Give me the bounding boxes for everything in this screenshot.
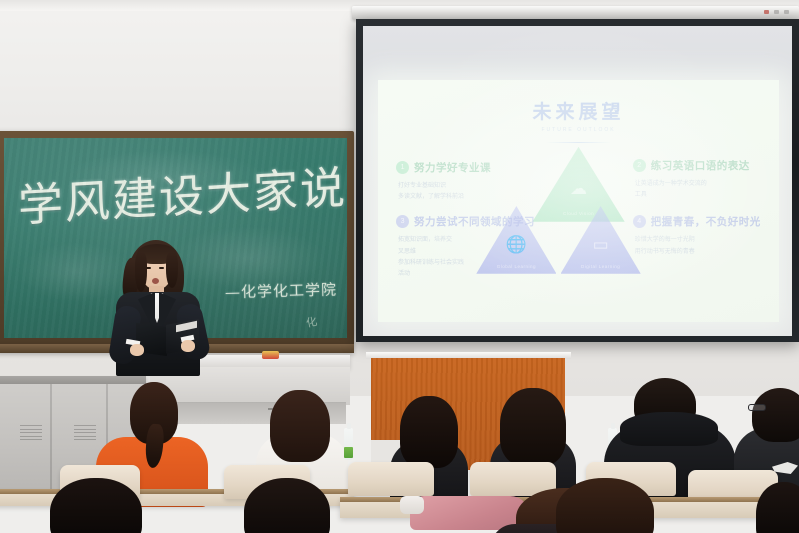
slide-block-title: 努力尝试不同领域的学习	[414, 214, 535, 229]
bottle-neck	[611, 423, 615, 429]
roller-screw-icon	[774, 10, 779, 14]
triangle-bottom-right-caption: Digital Learning	[561, 264, 641, 269]
projection-screen: 未来展望 FUTURE OUTLOOK ☁ Cloud Vision 🌐 Glo…	[356, 19, 799, 342]
slide-block-top-right: 2 练习英语口语的表达 让英语成为一种学术交流的 工具	[633, 158, 769, 201]
bullet-number-icon: 3	[396, 215, 409, 228]
slide-body-line: 叉思维	[398, 247, 540, 258]
student-foreground-left	[50, 478, 142, 533]
slide-block-body: 珍惜大学的每一寸光阴 用行动书写无悔的青春	[635, 235, 769, 257]
slide-body-line: 让英语成为一种学术交流的	[635, 179, 769, 190]
chalk-smudge	[66, 150, 265, 202]
slide-block-title: 努力学好专业课	[414, 160, 491, 175]
cabinet-seam	[50, 384, 52, 499]
bullet-number-icon: 2	[633, 159, 646, 172]
chalkboard-extra-mark: 化	[304, 313, 318, 331]
classroom-scene: 学风建设大家说 —化学化工学院 化 未来展望 FUTURE OUTLOOK ☁ …	[0, 0, 799, 533]
bullet-number-icon: 4	[633, 215, 646, 228]
projection-screen-surface: 未来展望 FUTURE OUTLOOK ☁ Cloud Vision 🌐 Glo…	[363, 26, 792, 336]
presenter-side-hair	[135, 252, 147, 292]
slide-block-title: 练习英语口语的表达	[651, 158, 750, 173]
seat-back-3[interactable]	[348, 462, 434, 496]
slide-block-heading: 2 练习英语口语的表达	[633, 158, 769, 173]
triangle-bottom-right: ▭ Digital Learning	[561, 206, 641, 274]
student-black-hair-center-hair	[500, 388, 566, 466]
slide-title-rule	[546, 142, 610, 143]
slide-block-body: 拓宽知识面，培养交 叉思维 参加科研训练与社会实践 活动	[398, 235, 540, 279]
slide-body-line: 多读文献，了解学科前沿	[398, 192, 528, 203]
slide-title: 未来展望	[378, 97, 779, 124]
student-male-hoodie-hood	[620, 412, 718, 446]
slide-block-top-left: 1 努力学好专业课 打好专业基础知识 多读文献，了解学科前沿	[396, 160, 528, 203]
presenter-side-hair	[166, 252, 178, 288]
cabinet-vent-icon	[20, 425, 42, 442]
slide-block-heading: 1 努力学好专业课	[396, 160, 528, 175]
slide-block-heading: 4 把握青春，不负好时光	[633, 214, 769, 229]
presenter-hand-left	[130, 344, 144, 356]
chalkboard-title: 学风建设大家说	[18, 165, 347, 228]
student-foreground-right	[556, 478, 654, 533]
presenter-hand-right	[181, 340, 195, 352]
slide-block-title: 把握青春，不负好时光	[651, 214, 761, 229]
student-white-top-hair	[270, 390, 330, 462]
student-glasses-jacket-hair	[752, 388, 799, 442]
pink-jacket-cuff	[400, 496, 424, 514]
slide-body-line: 工具	[635, 190, 769, 201]
slide-body-line: 珍惜大学的每一寸光阴	[635, 235, 769, 246]
slide-body-line: 参加科研训练与社会实践	[398, 258, 540, 269]
bullet-number-icon: 1	[396, 161, 409, 174]
slide-block-bottom-left: 3 努力尝试不同领域的学习 拓宽知识面，培养交 叉思维 参加科研训练与社会实践 …	[396, 214, 540, 279]
roller-screw-icon	[784, 10, 789, 14]
water-bottle-left	[344, 428, 353, 460]
student-presenter	[104, 236, 220, 376]
bottle-neck	[347, 423, 351, 429]
laptop-icon: ▭	[561, 236, 641, 253]
cabinet-vent-icon	[74, 425, 96, 442]
student-foreground-midleft	[244, 478, 330, 533]
slide-body-line: 用行动书写无悔的青春	[635, 247, 769, 258]
bottle-label	[344, 447, 353, 458]
slide-body-line: 打好专业基础知识	[398, 181, 528, 192]
slide-subtitle: FUTURE OUTLOOK	[378, 127, 779, 133]
roller-indicator-icon	[764, 10, 769, 14]
presenter-eye	[159, 267, 164, 269]
eyeglasses-icon	[748, 404, 766, 411]
slide-body-line: 活动	[398, 269, 540, 280]
slide-body-line: 拓宽知识面，培养交	[398, 235, 540, 246]
slide-block-bottom-right: 4 把握青春，不负好时光 珍惜大学的每一寸光阴 用行动书写无悔的青春	[633, 214, 769, 257]
student-dark-long-hair-hair	[400, 396, 458, 468]
projection-screen-roller[interactable]	[352, 6, 799, 20]
presentation-slide: 未来展望 FUTURE OUTLOOK ☁ Cloud Vision 🌐 Glo…	[378, 80, 779, 322]
slide-block-body: 让英语成为一种学术交流的 工具	[635, 179, 769, 201]
chalk-and-eraser-box[interactable]	[262, 351, 279, 359]
presenter-eye	[146, 267, 151, 269]
chalkboard-signature: —化学化工学院	[225, 279, 338, 303]
presenter-mouth	[152, 278, 159, 284]
cloud-icon: ☁	[532, 180, 624, 197]
slide-block-body: 打好专业基础知识 多读文献，了解学科前沿	[398, 181, 528, 203]
slide-block-heading: 3 努力尝试不同领域的学习	[396, 214, 540, 229]
